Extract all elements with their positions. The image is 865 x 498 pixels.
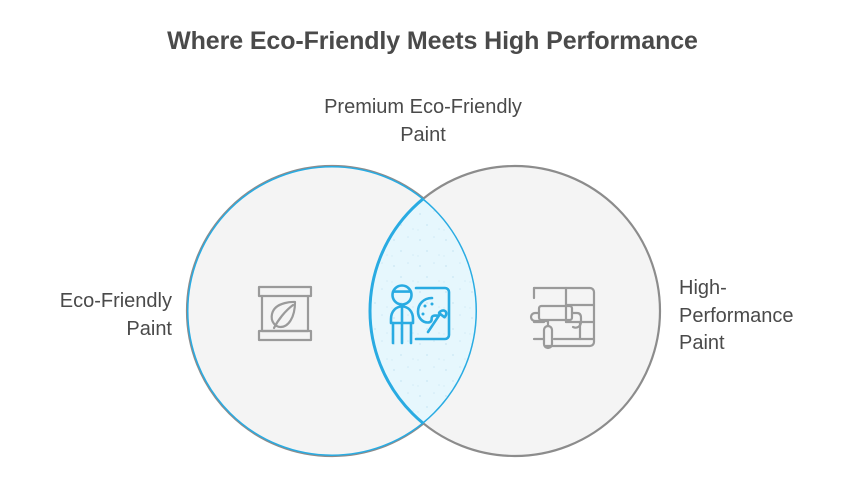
- page-title: Where Eco-Friendly Meets High Performanc…: [0, 26, 865, 56]
- venn-circle-right: [370, 166, 660, 456]
- venn-circle-left: [187, 166, 477, 456]
- eco-paint-bag-leaf-icon: [259, 287, 311, 340]
- right-set-label-line2: Performance: [679, 303, 859, 331]
- left-set-label: Eco-Friendly Paint: [0, 288, 172, 343]
- paint-roller-wall-icon: [531, 288, 594, 348]
- intersection-label-line1: Premium Eco-Friendly: [253, 94, 593, 122]
- intersection-label: Premium Eco-Friendly Paint: [253, 94, 593, 149]
- right-set-label-line3: Paint: [679, 330, 859, 358]
- painter-palette-icon: [391, 286, 449, 344]
- left-set-label-line1: Eco-Friendly: [0, 288, 172, 316]
- intersection-label-line2: Paint: [253, 122, 593, 150]
- right-set-label: High- Performance Paint: [679, 275, 859, 358]
- diagram-canvas: Where Eco-Friendly Meets High Performanc…: [0, 0, 865, 498]
- venn-diagram: [0, 0, 865, 498]
- right-set-label-line1: High-: [679, 275, 859, 303]
- venn-intersection: [187, 166, 660, 456]
- left-set-label-line2: Paint: [0, 316, 172, 344]
